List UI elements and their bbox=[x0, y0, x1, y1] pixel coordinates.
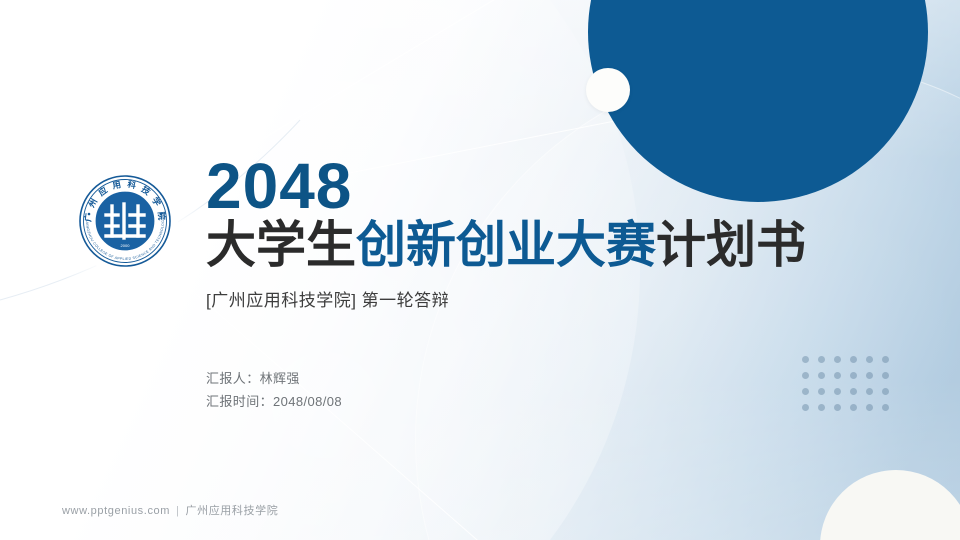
main-title: 大学生创新创业大赛计划书 bbox=[206, 219, 846, 272]
presentation-cover-slide: 广 州 应 用 科 技 学 院 GUANGZHOU COLLEGE OF APP… bbox=[0, 0, 960, 540]
year-heading: 2048 bbox=[206, 156, 846, 217]
university-seal-logo: 广 州 应 用 科 技 学 院 GUANGZHOU COLLEGE OF APP… bbox=[72, 168, 178, 274]
presenter-name: 汇报人：林辉强 bbox=[206, 368, 342, 391]
white-circle-accent bbox=[586, 68, 630, 112]
footer: www.pptgenius.com|广州应用科技学院 bbox=[62, 502, 278, 518]
presentation-date: 汇报时间：2048/08/08 bbox=[206, 391, 342, 414]
subtitle: [广州应用科技学院] 第一轮答辩 bbox=[206, 286, 846, 311]
main-title-accent: 创新创业大赛 bbox=[356, 217, 656, 273]
logo-established-year: 2000 bbox=[121, 243, 131, 248]
title-block: 2048 大学生创新创业大赛计划书 [广州应用科技学院] 第一轮答辩 bbox=[206, 156, 846, 311]
main-title-tail: 计划书 bbox=[656, 217, 806, 273]
presenter-meta: 汇报人：林辉强 汇报时间：2048/08/08 bbox=[206, 368, 342, 414]
footer-organization: 广州应用科技学院 bbox=[186, 505, 279, 517]
dot-grid-decoration bbox=[802, 356, 898, 420]
footer-separator: | bbox=[176, 505, 179, 517]
main-title-lead: 大学生 bbox=[206, 217, 356, 273]
footer-website: www.pptgenius.com bbox=[62, 505, 170, 517]
